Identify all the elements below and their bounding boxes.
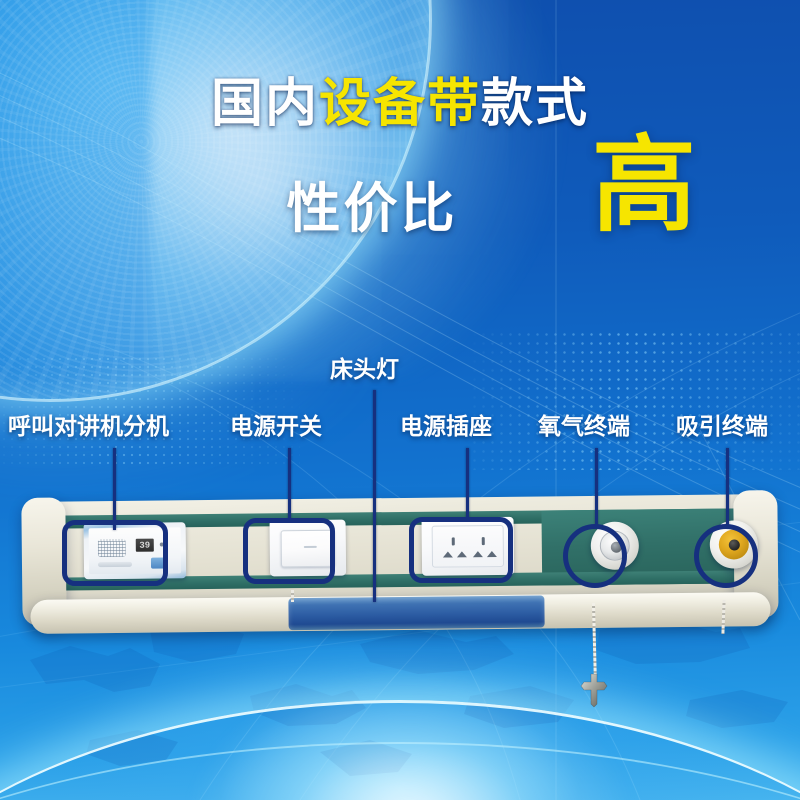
callout-label-intercom: 呼叫对讲机分机 bbox=[8, 415, 169, 438]
callout-label-group: 呼叫对讲机分机 电源开关 床头灯 电源插座 氧气终端 吸引终端 bbox=[0, 0, 800, 800]
callout-label-suction: 吸引终端 bbox=[676, 415, 768, 438]
banner-stage: 国内设备带款式 性价比 高 呼叫对讲机分机 电源开关 床头灯 电源插座 氧气终端… bbox=[0, 0, 800, 800]
callout-label-power-switch: 电源开关 bbox=[230, 415, 322, 438]
callout-label-power-socket: 电源插座 bbox=[400, 415, 492, 438]
callout-label-oxygen: 氧气终端 bbox=[538, 415, 630, 438]
callout-label-bedside-lamp: 床头灯 bbox=[330, 358, 399, 381]
